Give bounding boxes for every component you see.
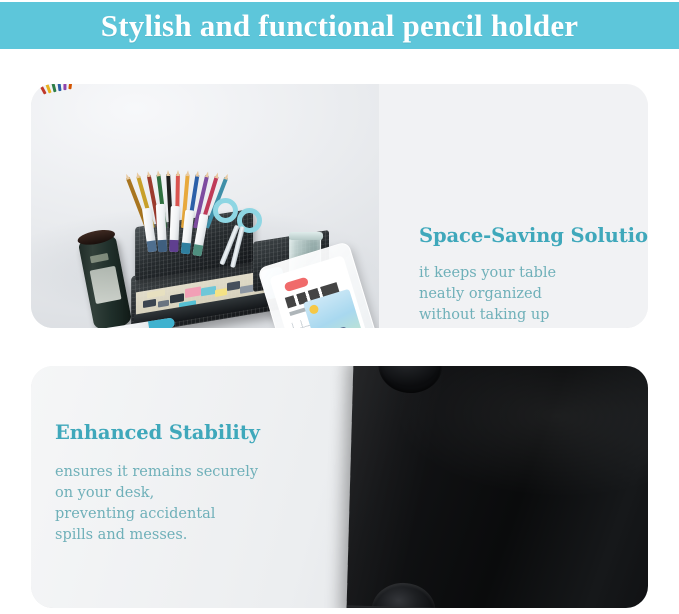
scissors-handle-left [213, 198, 238, 223]
feature-body-line: spills and messes. [55, 525, 345, 546]
page-title: Stylish and functional pencil holder [101, 8, 578, 44]
feature-body: it keeps your table neatly organized wit… [419, 263, 648, 328]
feature-card-space-saving: Space-Saving Solution it keeps your tabl… [31, 84, 648, 328]
feature-body-line: on your desk, [55, 483, 345, 504]
feature-body: ensures it remains securely on your desk… [55, 462, 345, 546]
jar-lid [289, 232, 323, 240]
feature-body-line: ensures it remains securely [55, 462, 345, 483]
feature-body-line: it keeps your table [419, 263, 648, 284]
tube-colored-pencils [31, 84, 77, 95]
pencil-tube-label [90, 266, 122, 304]
infographic-page: Stylish and functional pencil holder [0, 0, 679, 614]
package-badge [284, 277, 310, 293]
feature-body-line: preventing accidental [55, 504, 345, 525]
feature-body-line: neatly organized [419, 284, 648, 305]
standing-marker-3 [169, 206, 180, 252]
illustration-figure-2 [335, 326, 355, 328]
illustration-sun [308, 304, 319, 315]
organizer-base-underside [346, 366, 648, 608]
feature-heading: Space-Saving Solution [419, 224, 648, 247]
base-edge-highlight [346, 366, 648, 608]
feature-card-enhanced-stability: Enhanced Stability ensures it remains se… [31, 366, 648, 608]
feature-text-space-saving: Space-Saving Solution it keeps your tabl… [419, 224, 648, 328]
pencil-tube-brand-text [90, 253, 109, 263]
feature-text-enhanced-stability: Enhanced Stability ensures it remains se… [55, 421, 345, 546]
header-banner: Stylish and functional pencil holder [0, 2, 679, 49]
product-photo-organizer-full [31, 84, 379, 328]
feature-body-line: without taking up [419, 305, 648, 326]
feature-heading: Enhanced Stability [55, 421, 345, 444]
feature-body-line: too much desk space. [419, 326, 648, 328]
